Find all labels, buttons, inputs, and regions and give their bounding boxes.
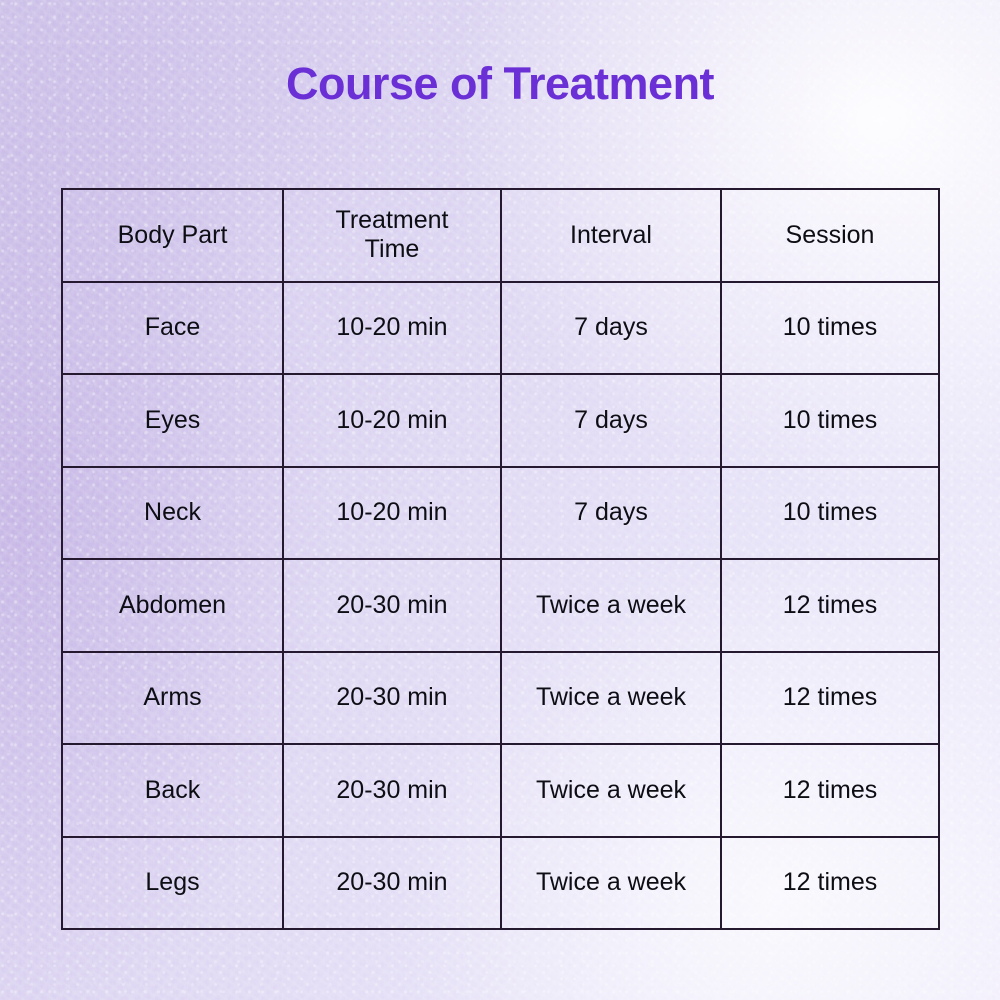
cell-treatment-time: 20-30 min <box>283 744 501 837</box>
cell-session: 12 times <box>721 837 939 930</box>
cell-treatment-time: 10-20 min <box>283 374 501 467</box>
column-header-treatment-time: Treatment Time <box>283 189 501 282</box>
cell-session: 10 times <box>721 374 939 467</box>
column-header-interval: Interval <box>501 189 721 282</box>
table-row: Legs 20-30 min Twice a week 12 times <box>62 837 939 930</box>
page-title: Course of Treatment <box>0 58 1000 110</box>
cell-treatment-time: 20-30 min <box>283 559 501 652</box>
table-row: Neck 10-20 min 7 days 10 times <box>62 467 939 560</box>
cell-interval: Twice a week <box>501 837 721 930</box>
cell-interval: Twice a week <box>501 559 721 652</box>
column-header-session: Session <box>721 189 939 282</box>
cell-treatment-time: 20-30 min <box>283 837 501 930</box>
table-row: Arms 20-30 min Twice a week 12 times <box>62 652 939 745</box>
column-header-body-part: Body Part <box>62 189 283 282</box>
cell-body-part: Back <box>62 744 283 837</box>
cell-interval: 7 days <box>501 467 721 560</box>
cell-treatment-time: 10-20 min <box>283 282 501 375</box>
cell-body-part: Eyes <box>62 374 283 467</box>
table-row: Abdomen 20-30 min Twice a week 12 times <box>62 559 939 652</box>
cell-body-part: Arms <box>62 652 283 745</box>
cell-session: 12 times <box>721 744 939 837</box>
cell-session: 12 times <box>721 652 939 745</box>
cell-body-part: Face <box>62 282 283 375</box>
cell-body-part: Legs <box>62 837 283 930</box>
cell-session: 12 times <box>721 559 939 652</box>
cell-treatment-time: 20-30 min <box>283 652 501 745</box>
cell-interval: 7 days <box>501 374 721 467</box>
cell-interval: Twice a week <box>501 652 721 745</box>
cell-treatment-time: 10-20 min <box>283 467 501 560</box>
treatment-schedule-table: Body Part Treatment Time Interval Sessio… <box>61 188 940 930</box>
table-row: Eyes 10-20 min 7 days 10 times <box>62 374 939 467</box>
cell-session: 10 times <box>721 282 939 375</box>
infographic-page: Course of Treatment Body Part Treatment … <box>0 0 1000 1000</box>
cell-interval: 7 days <box>501 282 721 375</box>
cell-interval: Twice a week <box>501 744 721 837</box>
table-header-row: Body Part Treatment Time Interval Sessio… <box>62 189 939 282</box>
table-row: Back 20-30 min Twice a week 12 times <box>62 744 939 837</box>
cell-body-part: Abdomen <box>62 559 283 652</box>
table-row: Face 10-20 min 7 days 10 times <box>62 282 939 375</box>
cell-body-part: Neck <box>62 467 283 560</box>
cell-session: 10 times <box>721 467 939 560</box>
